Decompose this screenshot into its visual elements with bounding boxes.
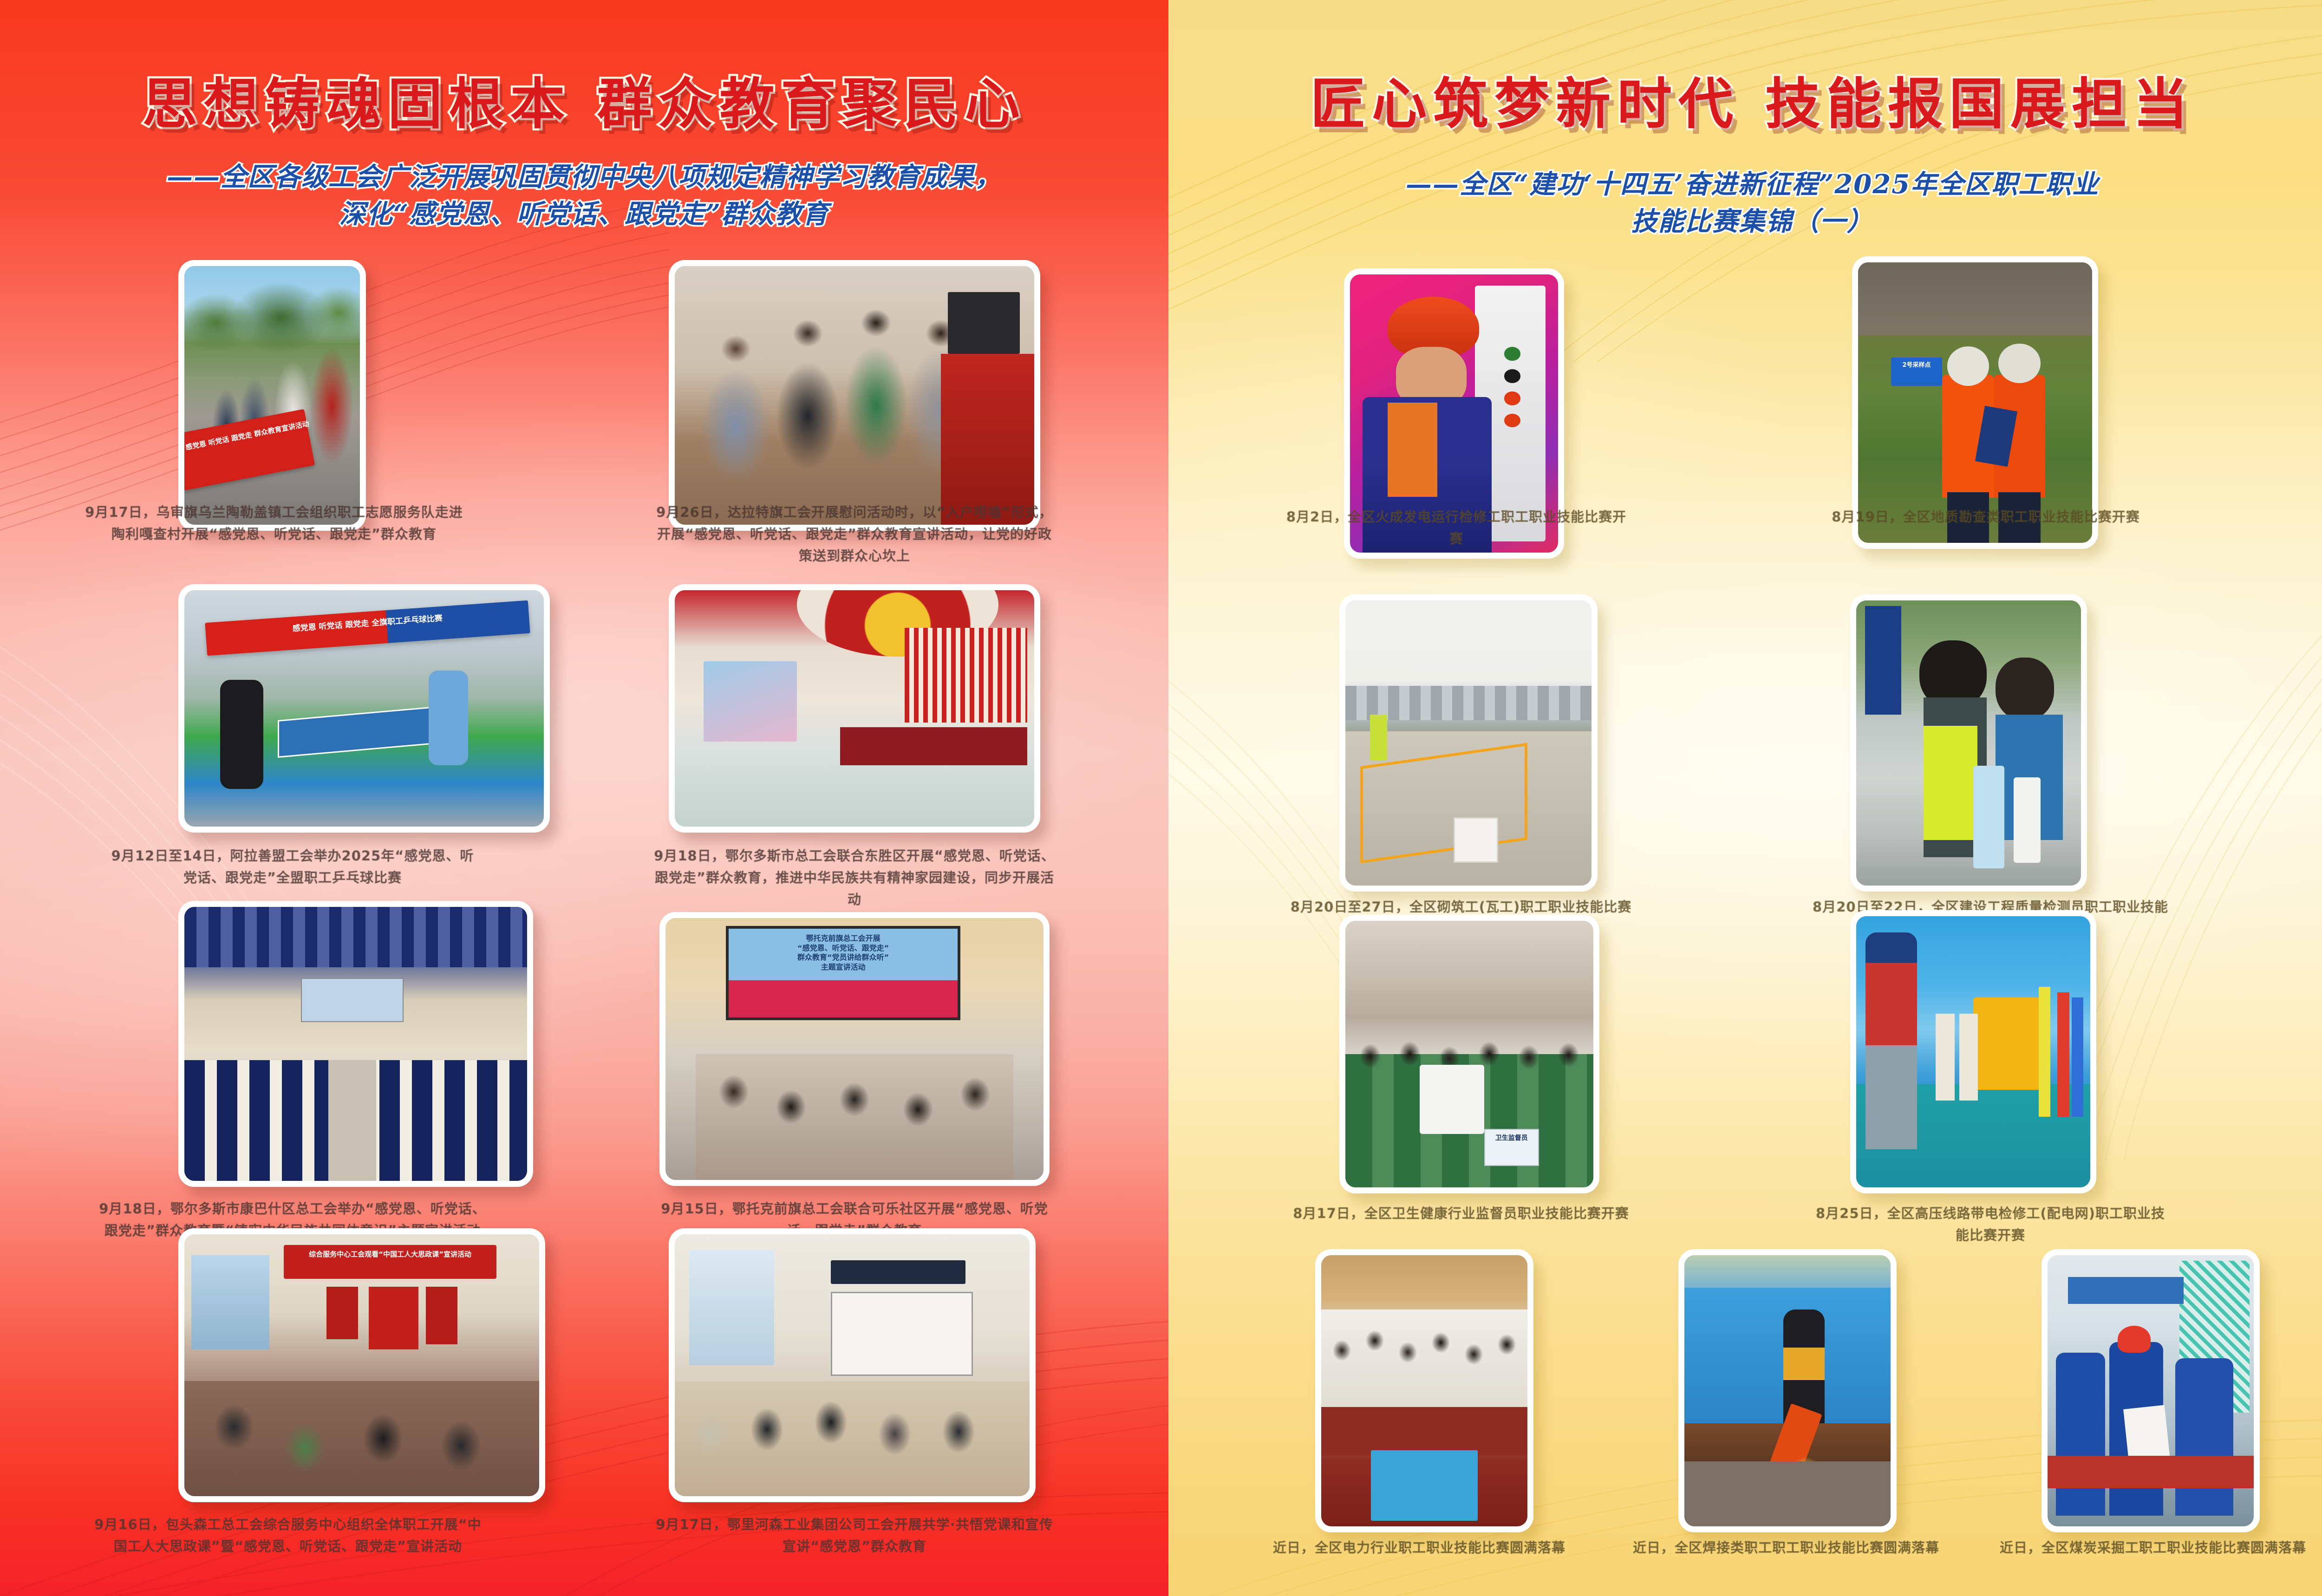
sign-text-right-r3c1: 卫生监督员 xyxy=(1484,1134,1539,1142)
sign-text-right-r1c2: 2号采样点 xyxy=(1891,362,1943,370)
right-main-title: 匠心筑梦新时代 技能报国展担当 xyxy=(1168,73,2322,135)
caption-right-r3c1: 8月17日，全区卫生健康行业监督员职业技能比赛开赛 xyxy=(1285,1203,1637,1225)
photo-right-r2c1 xyxy=(1345,600,1591,886)
left-subtitle-line-2: 深化“感党恩、听党话、跟党走”群众教育 xyxy=(0,196,1168,233)
photo-card-right-r3c1[interactable]: 卫生监督员 xyxy=(1339,915,1599,1193)
photo-card-right-r4c1[interactable] xyxy=(1315,1249,1533,1532)
photo-left-r4c2 xyxy=(675,1234,1030,1496)
photo-right-r3c1: 卫生监督员 xyxy=(1345,921,1593,1187)
photo-left-r1c2 xyxy=(675,266,1034,525)
left-subtitle-line-1: ——全区各级工会广泛开展巩固贯彻中央八项规定精神学习教育成果， xyxy=(0,159,1168,196)
photo-left-r1c1: 感党恩 听党话 跟党走 群众教育宣讲活动 xyxy=(184,266,360,525)
right-panel: 匠心筑梦新时代 技能报国展担当 ——全区“建功‘十四五’奋进新征程”2025年全… xyxy=(1168,0,2322,1596)
left-header: 思想铸魂固根本 群众教育聚民心 xyxy=(0,73,1168,135)
caption-right-r4c3: 近日，全区煤炭采掘工职工职业技能比赛圆满落幕 xyxy=(1990,1537,2315,1559)
photo-left-r4c1: 综合服务中心工会观看“中国工人大思政课”宣讲活动 xyxy=(184,1234,539,1496)
photo-right-r4c2 xyxy=(1684,1255,1891,1526)
left-subtitle-block: ——全区各级工会广泛开展巩固贯彻中央八项规定精神学习教育成果， 深化“感党恩、听… xyxy=(0,159,1168,233)
right-subtitle-line-2: 技能比赛集锦（一） xyxy=(1168,203,2322,241)
caption-left-r2c1: 9月12日至14日，阿拉善盟工会举办2025年“感党恩、听党话、跟党走”全盟职工… xyxy=(107,845,478,889)
photo-card-left-r4c1[interactable]: 综合服务中心工会观看“中国工人大思政课”宣讲活动 xyxy=(178,1228,545,1502)
photo-card-right-r2c2[interactable] xyxy=(1850,594,2087,892)
photo-card-right-r4c2[interactable] xyxy=(1678,1249,1897,1532)
photo-card-right-r2c1[interactable] xyxy=(1339,594,1598,892)
photo-right-r1c2: 2号采样点 xyxy=(1858,262,2092,543)
poster-spread: 思想铸魂固根本 群众教育聚民心 ——全区各级工会广泛开展巩固贯彻中央八项规定精神… xyxy=(0,0,2322,1596)
photo-left-r2c1: 感党恩 听党话 跟党走 全旗职工乒乓球比赛 xyxy=(184,590,544,827)
photo-card-left-r3c2[interactable]: 鄂托克前旗总工会开展 “感党恩、听党话、跟党走” 群众教育“党员讲给群众听” 主… xyxy=(659,912,1050,1186)
banner-text-left-r4c1: 综合服务中心工会观看“中国工人大思政课”宣讲活动 xyxy=(284,1250,496,1259)
screen-text-left-r3c2: 鄂托克前旗总工会开展 “感党恩、听党话、跟党走” 群众教育“党员讲给群众听” 主… xyxy=(730,934,956,972)
photo-card-right-r3c2[interactable] xyxy=(1850,910,2096,1193)
caption-right-r4c1: 近日，全区电力行业职工职业技能比赛圆满落幕 xyxy=(1261,1537,1577,1559)
photo-right-r2c2 xyxy=(1856,600,2081,886)
photo-card-right-r1c2[interactable]: 2号采样点 xyxy=(1852,256,2098,549)
photo-right-r3c2 xyxy=(1856,916,2090,1187)
caption-right-r4c2: 近日，全区焊接类职工职工职业技能比赛圆满落幕 xyxy=(1624,1537,1949,1559)
photo-right-r4c3 xyxy=(2048,1255,2254,1526)
caption-right-r1c2: 8月19日，全区地质勘查类职工职业技能比赛开赛 xyxy=(1809,506,2162,528)
caption-left-r1c1: 9月17日，乌审旗乌兰陶勒盖镇工会组织职工志愿服务队走进陶利嘎查村开展“感党恩、… xyxy=(79,502,469,545)
photo-card-left-r2c2[interactable] xyxy=(669,584,1040,833)
caption-right-r1c1: 8月2日，全区火成发电运行检修工职工职业技能比赛开赛 xyxy=(1285,506,1628,550)
caption-left-r4c2: 9月17日，鄂里河森工业集团公司工会开展共学·共悟党课和宣传宣讲“感党恩”群众教… xyxy=(650,1514,1059,1557)
photo-right-r4c1 xyxy=(1321,1255,1527,1526)
photo-left-r3c2: 鄂托克前旗总工会开展 “感党恩、听党话、跟党走” 群众教育“党员讲给群众听” 主… xyxy=(665,918,1044,1180)
photo-left-r3c1 xyxy=(184,907,527,1181)
left-main-title: 思想铸魂固根本 群众教育聚民心 xyxy=(0,73,1168,135)
photo-card-left-r1c2[interactable] xyxy=(669,260,1040,531)
photo-card-left-r4c2[interactable] xyxy=(669,1228,1036,1502)
right-subtitle-block: ——全区“建功‘十四五’奋进新征程”2025年全区职工职业 技能比赛集锦（一） xyxy=(1168,166,2322,240)
caption-left-r4c1: 9月16日，包头森工总工会综合服务中心组织全体职工开展“中国工人大思政课”暨“感… xyxy=(88,1514,488,1557)
left-panel: 思想铸魂固根本 群众教育聚民心 ——全区各级工会广泛开展巩固贯彻中央八项规定精神… xyxy=(0,0,1168,1596)
caption-left-r2c2: 9月18日，鄂尔多斯市总工会联合东胜区开展“感党恩、听党话、跟党走”群众教育，推… xyxy=(650,845,1059,911)
right-header: 匠心筑梦新时代 技能报国展担当 xyxy=(1168,73,2322,135)
caption-left-r1c2: 9月26日，达拉特旗工会开展慰问活动时，以“入户唠嗑”形式，开展“感党恩、听党话… xyxy=(650,502,1059,567)
photo-card-left-r3c1[interactable] xyxy=(178,901,533,1187)
photo-card-left-r1c1[interactable]: 感党恩 听党话 跟党走 群众教育宣讲活动 xyxy=(178,260,366,531)
photo-card-left-r2c1[interactable]: 感党恩 听党话 跟党走 全旗职工乒乓球比赛 xyxy=(178,584,550,833)
photo-card-right-r4c3[interactable] xyxy=(2042,1249,2260,1532)
photo-left-r2c2 xyxy=(675,590,1034,827)
right-subtitle-line-1: ——全区“建功‘十四五’奋进新征程”2025年全区职工职业 xyxy=(1168,166,2322,203)
caption-right-r3c2: 8月25日，全区高压线路带电检修工(配电网)职工职业技能比赛开赛 xyxy=(1809,1203,2172,1246)
